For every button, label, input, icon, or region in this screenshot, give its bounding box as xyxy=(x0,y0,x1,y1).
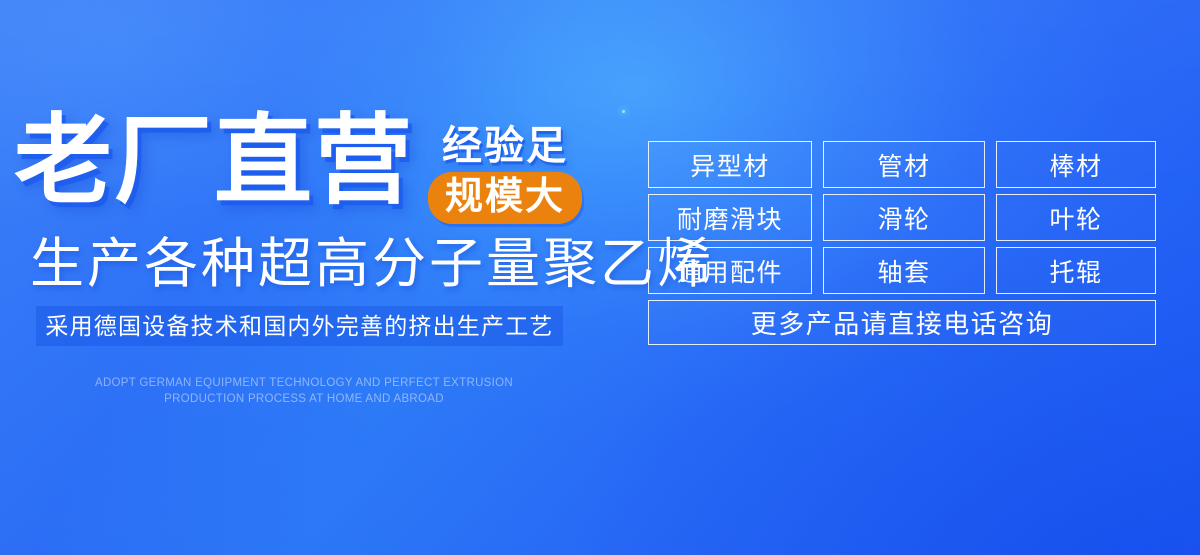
more-products-contact-button[interactable]: 更多产品请直接电话咨询 xyxy=(648,300,1156,345)
english-subtitle-line-1: ADOPT GERMAN EQUIPMENT TECHNOLOGY AND PE… xyxy=(0,375,608,391)
product-row-cta: 更多产品请直接电话咨询 xyxy=(648,300,1156,345)
product-cell-hualun[interactable]: 滑轮 xyxy=(823,194,985,241)
tagline-bar: 采用德国设备技术和国内外完善的挤出生产工艺 xyxy=(36,306,563,346)
sparkle-dot-icon xyxy=(622,110,625,113)
product-row-2: 耐磨滑块 滑轮 叶轮 xyxy=(648,194,1156,241)
product-cell-tongyongpeijian[interactable]: 通用配件 xyxy=(648,247,812,294)
english-subtitle: ADOPT GERMAN EQUIPMENT TECHNOLOGY AND PE… xyxy=(0,375,608,407)
badge-stack: 经验足 规模大 xyxy=(428,124,582,224)
promotional-banner: 老厂直营 经验足 规模大 生产各种超高分子量聚乙烯 采用德国设备技术和国内外完善… xyxy=(0,0,1200,555)
sub-headline: 生产各种超高分子量聚乙烯 xyxy=(30,234,714,294)
tagline-text: 采用德国设备技术和国内外完善的挤出生产工艺 xyxy=(45,312,553,340)
headline-panel: 老厂直营 经验足 规模大 生产各种超高分子量聚乙烯 采用德国设备技术和国内外完善… xyxy=(0,0,620,555)
product-cell-naimohuakuai[interactable]: 耐磨滑块 xyxy=(648,194,812,241)
product-cell-tuogun[interactable]: 托辊 xyxy=(996,247,1156,294)
product-cell-yixingcai[interactable]: 异型材 xyxy=(648,141,812,188)
product-row-3: 通用配件 轴套 托辊 xyxy=(648,247,1156,294)
product-cell-guancai[interactable]: 管材 xyxy=(823,141,985,188)
product-category-grid: 异型材 管材 棒材 耐磨滑块 滑轮 叶轮 通用配件 轴套 托辊 更多产品请直接电… xyxy=(648,141,1156,345)
badge-experience: 经验足 xyxy=(442,124,568,168)
product-cell-zhoutao[interactable]: 轴套 xyxy=(823,247,985,294)
headline-row: 老厂直营 经验足 规模大 xyxy=(14,110,582,224)
product-row-1: 异型材 管材 棒材 xyxy=(648,141,1156,188)
main-headline: 老厂直营 xyxy=(14,110,414,210)
english-subtitle-line-2: PRODUCTION PROCESS AT HOME AND ABROAD xyxy=(0,391,608,407)
badge-scale-pill: 规模大 xyxy=(428,172,582,224)
product-cell-bangcai[interactable]: 棒材 xyxy=(996,141,1156,188)
product-cell-yelun[interactable]: 叶轮 xyxy=(996,194,1156,241)
